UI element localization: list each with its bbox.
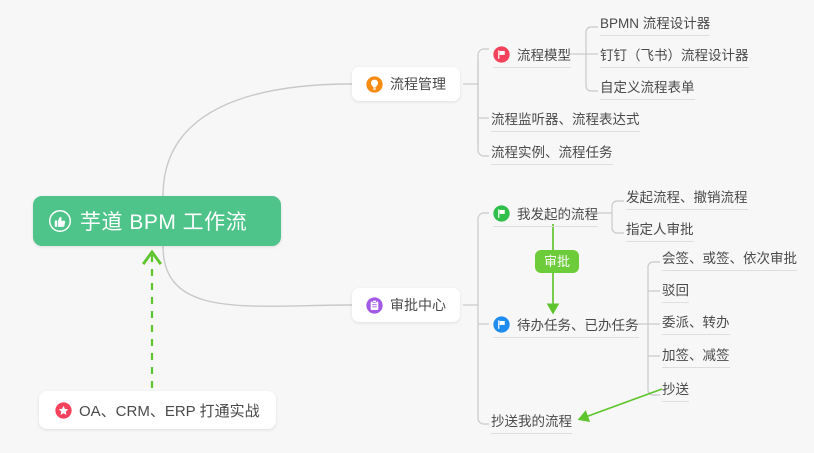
wire-approval-center-branch-ccme — [478, 418, 489, 424]
branch-label-approval-center: 审批中心 — [390, 295, 446, 315]
branch-label-flow-management: 流程管理 — [390, 74, 446, 94]
leaf-node-listener-expression[interactable]: 流程监听器、流程表达式 — [491, 108, 640, 132]
leaf-node-bpmn-designer[interactable]: BPMN 流程设计器 — [600, 12, 710, 36]
wire-todo-branch-cc — [648, 390, 660, 395]
clipboard-icon — [366, 297, 383, 314]
thumbs-up-icon — [49, 210, 71, 232]
root-label: 芋道 BPM 工作流 — [80, 206, 247, 236]
wire-process-model-branch-bpmn — [586, 27, 598, 32]
footer-node-label: OA、CRM、ERP 打通实战 — [79, 400, 260, 421]
branch-node-approval-center[interactable]: 审批中心 — [352, 288, 460, 322]
leaf-node-dingtalk-designer[interactable]: 钉钉（飞书）流程设计器 — [600, 44, 749, 68]
wire-root-to-approval-center — [163, 246, 352, 306]
flag-icon — [493, 316, 510, 333]
leaf-node-add-remove-sign[interactable]: 加签、减签 — [662, 344, 730, 368]
footer-node-integration-practice[interactable]: OA、CRM、ERP 打通实战 — [39, 391, 276, 429]
flag-icon — [493, 205, 510, 222]
root-node[interactable]: 芋道 BPM 工作流 — [33, 196, 281, 246]
leaf-node-countersign[interactable]: 会签、或签、依次审批 — [662, 247, 797, 271]
flag-icon — [493, 46, 510, 63]
wire-todo-branch-countersign — [648, 262, 660, 267]
leaf-node-instance-task[interactable]: 流程实例、流程任务 — [491, 141, 613, 165]
sub-node-label-todo-done-tasks: 待办任务、已办任务 — [517, 314, 639, 334]
sub-node-process-model[interactable]: 流程模型 — [493, 44, 571, 68]
arrow-cc-to-ccme — [580, 389, 662, 419]
wire-root-to-flow-management — [163, 84, 352, 196]
leaf-node-cc-to-me[interactable]: 抄送我的流程 — [491, 410, 572, 434]
sub-node-label-process-model: 流程模型 — [517, 44, 571, 64]
wire-process-model-branch-customform — [586, 86, 598, 91]
leaf-node-reject[interactable]: 驳回 — [662, 279, 689, 303]
badge-approve: 审批 — [535, 250, 579, 273]
sub-node-label-my-initiated: 我发起的流程 — [517, 203, 598, 223]
leaf-node-delegate-transfer[interactable]: 委派、转办 — [662, 311, 730, 335]
sub-node-my-initiated[interactable]: 我发起的流程 — [493, 203, 598, 227]
wire-my-initiated-branch-start — [612, 201, 624, 206]
wire-my-initiated-branch-assignee — [612, 228, 624, 233]
leaf-node-assignee-approval[interactable]: 指定人审批 — [626, 218, 694, 242]
wire-approval-center-branch-initiated — [478, 213, 489, 219]
lightbulb-icon — [366, 76, 383, 93]
sub-node-todo-done-tasks[interactable]: 待办任务、已办任务 — [493, 314, 639, 338]
wire-flow-management-bracket — [478, 49, 489, 156]
branch-node-flow-management[interactable]: 流程管理 — [352, 67, 460, 101]
mindmap-canvas: 芋道 BPM 工作流 流程管理 审批中心 — [0, 0, 814, 453]
star-icon — [55, 402, 72, 419]
leaf-node-custom-form[interactable]: 自定义流程表单 — [600, 76, 695, 100]
leaf-node-start-cancel[interactable]: 发起流程、撤销流程 — [626, 186, 748, 210]
leaf-node-cc[interactable]: 抄送 — [662, 378, 689, 402]
